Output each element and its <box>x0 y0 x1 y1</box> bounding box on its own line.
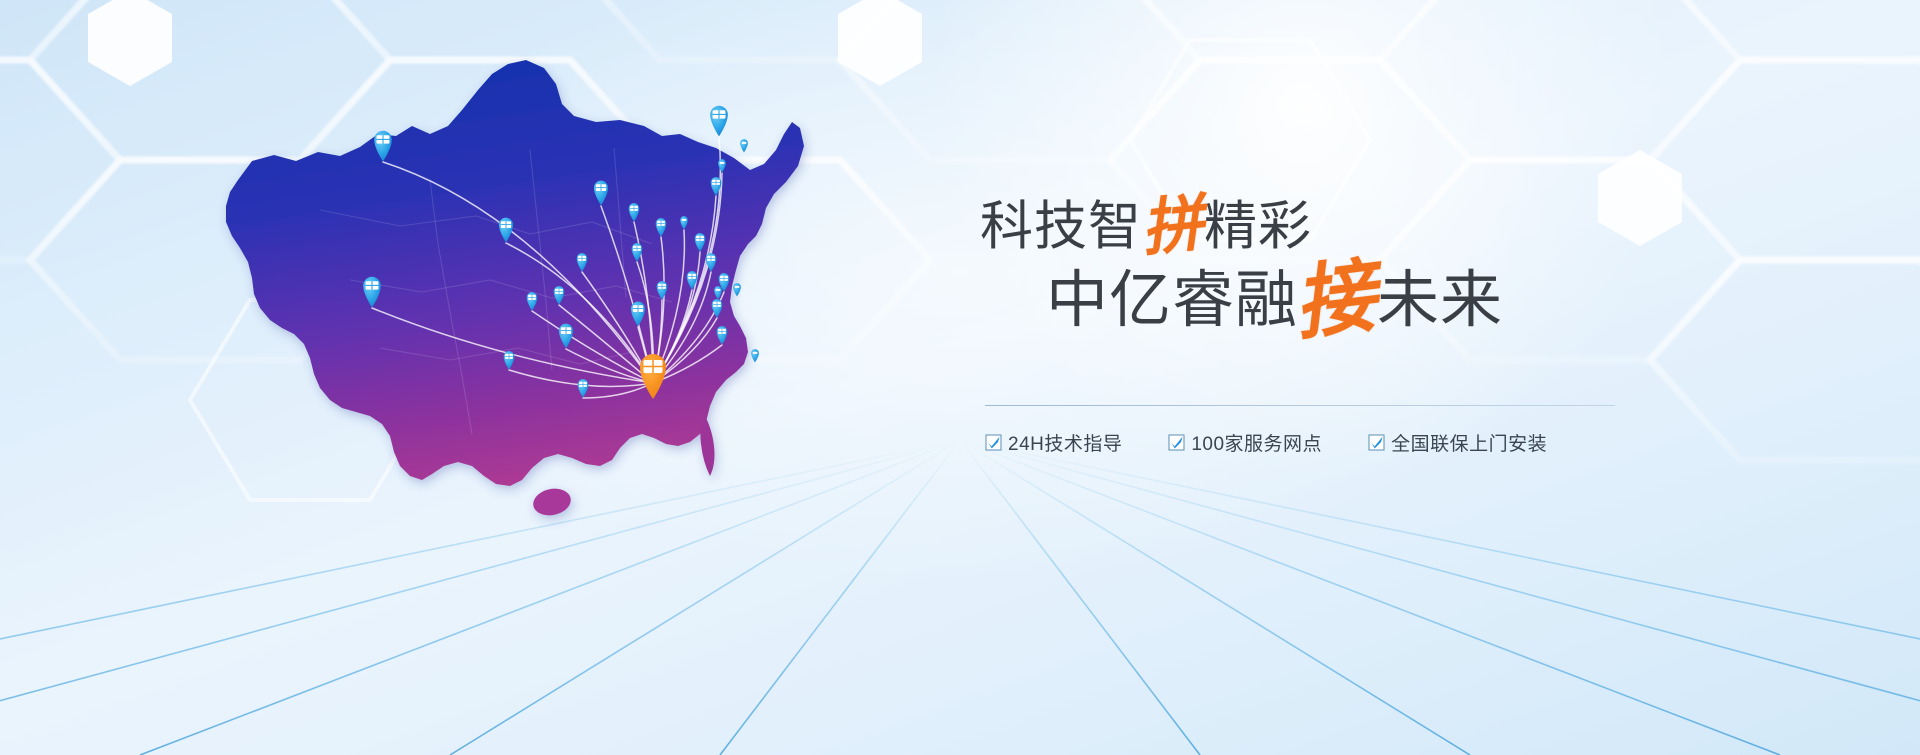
headline-line2-prefix: 中亿睿融 <box>1046 266 1298 335</box>
video-wall-icon <box>501 221 511 228</box>
video-wall-icon <box>528 295 536 300</box>
headline-line1-prefix: 科技智 <box>980 197 1142 256</box>
video-wall-icon <box>718 329 726 334</box>
pin-shape <box>653 277 671 300</box>
pin-shape <box>574 375 592 398</box>
pin-shaanxi[interactable] <box>628 239 646 262</box>
pin-offshore-a[interactable] <box>712 283 725 300</box>
pin-sichuan[interactable] <box>550 282 568 305</box>
video-wall-icon <box>555 289 563 294</box>
pin-guizhou[interactable] <box>523 288 541 311</box>
video-wall-icon <box>579 382 587 387</box>
pin-shape <box>704 99 734 137</box>
video-wall-icon <box>713 302 721 307</box>
pin-heilongjiang[interactable] <box>738 136 751 153</box>
check-box-icon <box>1168 434 1185 451</box>
pin-anhui[interactable] <box>683 267 701 290</box>
video-wall-icon <box>658 284 666 289</box>
feature-label: 全国联保上门安装 <box>1391 429 1547 456</box>
headline-divider <box>985 405 1615 406</box>
pin-shape <box>573 249 591 272</box>
video-wall-icon <box>630 206 638 211</box>
video-wall-icon <box>707 256 715 261</box>
pin-shape <box>625 199 643 222</box>
pin-shape <box>749 346 762 363</box>
pin-liaoning[interactable] <box>707 173 725 196</box>
video-wall-icon <box>657 221 665 226</box>
pin-shape <box>357 270 387 308</box>
pin-shape <box>738 136 751 153</box>
pin-neimenggu[interactable] <box>704 99 734 137</box>
headline-line2-accent: 接 <box>1289 247 1382 351</box>
pin-chongqing[interactable] <box>573 249 591 272</box>
headline-line2-suffix: 未来 <box>1377 266 1503 335</box>
pin-jilin[interactable] <box>716 156 729 173</box>
feature-list: 24H技术指导100家服务网点全国联保上门安装 <box>985 425 1645 459</box>
feature-label: 24H技术指导 <box>1008 429 1122 456</box>
pin-offshore-c[interactable] <box>749 346 762 363</box>
pin-guangxi[interactable] <box>574 375 592 398</box>
map-pin-icon <box>716 289 721 291</box>
pin-qinghai[interactable] <box>494 212 518 243</box>
pin-shape <box>713 322 731 345</box>
pin-shape <box>683 267 701 290</box>
headline-line-2: 中亿睿融接未来 <box>960 263 1620 337</box>
pin-hebei[interactable] <box>678 213 691 230</box>
video-wall-icon <box>696 236 704 241</box>
headline-line1-suffix: 精彩 <box>1204 197 1312 256</box>
pin-offshore-b[interactable] <box>731 280 744 297</box>
map-pin-icon <box>753 352 758 354</box>
video-wall-icon <box>505 354 513 359</box>
pin-shape <box>628 239 646 262</box>
video-wall-icon <box>713 110 726 118</box>
video-wall-icon <box>688 274 696 279</box>
pin-shape <box>523 288 541 311</box>
headline-block: 科技智拼精彩 中亿睿融接未来 <box>960 195 1620 337</box>
video-wall-icon <box>712 180 720 185</box>
pin-shape <box>500 347 518 370</box>
headline-line1-accent: 拼 <box>1138 187 1208 266</box>
pin-shape <box>494 212 518 243</box>
pin-gansu[interactable] <box>589 175 613 206</box>
pin-henan[interactable] <box>653 277 671 300</box>
pin-yunnan[interactable] <box>500 347 518 370</box>
hero-banner: 科技智拼精彩 中亿睿融接未来 24H技术指导100家服务网点全国联保上门安装 <box>0 0 1920 755</box>
feature-item: 全国联保上门安装 <box>1368 429 1547 456</box>
map-marker-layer <box>0 0 1920 755</box>
pin-shape <box>678 213 691 230</box>
pin-shape <box>589 175 613 206</box>
pin-xizang[interactable] <box>357 270 387 308</box>
pin-shape <box>554 318 578 349</box>
check-box-icon <box>985 434 1002 451</box>
feature-label: 100家服务网点 <box>1191 429 1322 456</box>
pin-shape <box>368 124 398 162</box>
video-wall-icon <box>561 327 571 334</box>
check-box-icon <box>1368 434 1385 451</box>
pin-shape <box>731 280 744 297</box>
feature-item: 24H技术指导 <box>985 429 1122 456</box>
map-pin-icon <box>682 219 687 221</box>
pin-xinjiang[interactable] <box>368 124 398 162</box>
pin-shape <box>550 282 568 305</box>
feature-item: 100家服务网点 <box>1168 429 1322 456</box>
video-wall-icon <box>596 184 606 191</box>
pin-shape <box>626 296 650 327</box>
pin-shape <box>652 214 670 237</box>
pin-shanxi[interactable] <box>652 214 670 237</box>
map-pin-icon <box>720 162 725 164</box>
video-wall-icon <box>720 276 728 281</box>
video-wall-icon <box>633 246 641 251</box>
pin-shape <box>716 156 729 173</box>
pin-fujian[interactable] <box>713 322 731 345</box>
video-wall-icon <box>366 281 379 289</box>
pin-hunan[interactable] <box>554 318 578 349</box>
pin-hubei[interactable] <box>626 296 650 327</box>
pin-shape <box>707 173 725 196</box>
map-pin-icon <box>735 286 740 288</box>
headline-line-1: 科技智拼精彩 <box>960 195 1620 259</box>
video-wall-icon <box>377 135 390 143</box>
video-wall-icon <box>578 256 586 261</box>
video-wall-icon <box>633 305 643 312</box>
pin-ningxia[interactable] <box>625 199 643 222</box>
map-pin-icon <box>742 142 747 144</box>
pin-shape <box>712 283 725 300</box>
